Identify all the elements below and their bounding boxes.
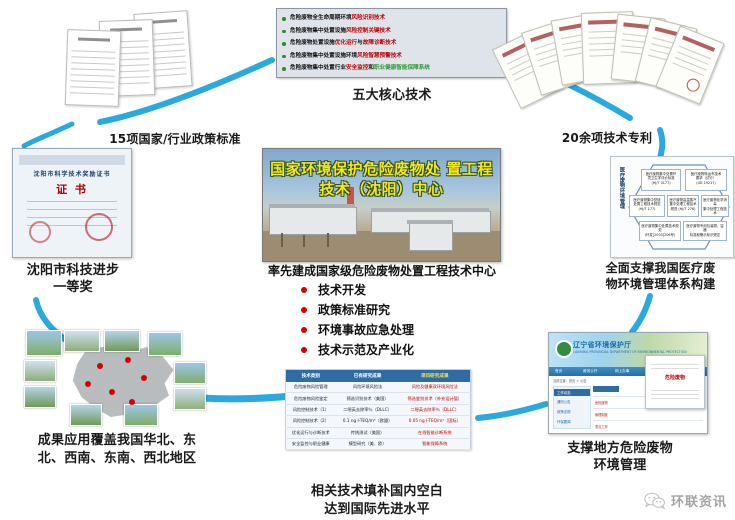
provincial-epb-website-screenshot: 辽宁省环境保护厅 LIAONING PROVINCIAL DEPARTMENT …: [548, 332, 708, 434]
map-caption: 成果应用覆盖我国华北、东 北、西南、东南、西北地区: [22, 432, 212, 468]
comparison-caption: 相关技术填补国内空白 达到国际先进水平: [282, 483, 472, 519]
core-tech-item: 危险废物集中处置设施环境风险智慧预警技术: [281, 50, 502, 63]
site-thumbnail: [174, 362, 206, 384]
standards-caption: 15项国家/行业政策标准: [90, 132, 260, 147]
table-header-row: 技术类别 已有研究成果 项目研究成果: [286, 370, 471, 383]
table-col-header: 已有研究成果: [336, 370, 400, 383]
infographic-canvas: 15项国家/行业政策标准 危险废物全生命周期环境风险识别技术 危险废物集中处置设…: [0, 0, 735, 520]
local-support-caption: 支撑地方危险废物 环境管理: [540, 440, 700, 474]
core-tech-item: 危险废物处置设施优化运行与故障诊断技术: [281, 37, 502, 50]
award-cert-title: 证 书: [13, 181, 131, 197]
core-tech-item: 危险废物集中处置设施风险控制关键技术: [281, 25, 502, 38]
center-function-item: 政策标准研究: [300, 300, 520, 320]
wechat-account-name: 环联资讯: [671, 491, 727, 510]
table-row: 风险控制技术（1） 二噁英去除率％（DLLC） 二噁英去除率％（DLLC）: [286, 404, 471, 415]
policy-standards-documents: [58, 8, 218, 120]
table-cell: 传统测试（美国）: [336, 427, 400, 438]
site-thumbnail: [24, 386, 56, 408]
table-cell: 筛选识别技术（美国）: [336, 393, 400, 404]
site-thumbnail: [174, 388, 206, 410]
nav-item[interactable]: 政务公开: [583, 369, 597, 374]
content-link[interactable]: 重点工作: [595, 424, 608, 429]
core-tech-item: 危险废物集中处置行业安全监控和职业健康智能保障系统: [281, 62, 502, 75]
wechat-account-badge: 环联资讯: [644, 491, 727, 510]
site-breadcrumb: 当前位置：首页 > 公告: [553, 378, 586, 383]
red-seal-icon: [29, 221, 51, 243]
content-section-title: [593, 386, 619, 392]
table-row: 危险废物风险鉴定 筛选识别技术（美国） 筛选鉴别技术（补充设计值）: [286, 393, 471, 404]
nav-item[interactable]: 网上办事: [615, 369, 629, 374]
content-link[interactable]: 管理制度: [595, 412, 608, 417]
table-cell: 危险废物风险鉴定: [286, 393, 336, 404]
table-cell: 二噁英去除率％（DLLC）: [400, 404, 471, 415]
table-row: 危险废物风险管理 风险环境风险法 风险及健康双环境风险法: [286, 382, 471, 393]
center-photo-title: 国家环境保护危险废物处 置工程技术（沈阳）中心: [263, 159, 500, 199]
table-cell: 0.1 ng I-TEQ/m³（欧盟）: [336, 416, 400, 427]
table-cell: 优化运行与诊断技术: [286, 427, 336, 438]
table-cell: 0.05 ng I-TEQ/m³（国标）: [400, 416, 471, 427]
table-cell: 模型研究（美、欧）: [336, 438, 400, 449]
hex-cell: 医疗废物集中处置环 境卫生学评价标准 (HJ/T 0177): [641, 169, 681, 191]
award-caption: 沈阳市科技进步 一等奖: [8, 262, 138, 296]
hex-cell: 医疗废物专用包装物、容器 标准和警示标识规定: [683, 221, 727, 241]
core-technologies-caption: 五大核心技术: [322, 88, 462, 103]
center-subtitle: 率先建成国家级危险废物处置工程技术中心: [232, 262, 532, 279]
award-cert-header: 沈阳市科学技术奖励证书: [13, 169, 131, 178]
site-subtitle: LIAONING PROVINCIAL DEPARTMENT OF ENVIRO…: [573, 350, 687, 354]
side-nav-item[interactable]: 工作动态: [554, 389, 590, 396]
center-function-item: 技术开发: [300, 280, 520, 300]
nav-item[interactable]: 首页: [555, 369, 562, 374]
table-cell: 智能保障系统: [400, 438, 471, 449]
patent-certificates: [500, 6, 715, 126]
table-cell: 在线智能诊断系统: [400, 427, 471, 438]
hex-cell: 医疗废物转运车技术 要求（试行） (GB 19217): [685, 169, 727, 191]
content-link[interactable]: 危险废物: [595, 400, 608, 405]
popup-title: 危险废物: [646, 374, 704, 381]
center-function-item: 技术示范及产业化: [300, 340, 520, 360]
wechat-icon: [644, 492, 666, 510]
core-technologies-box: 危险废物全生命周期环境风险识别技术 危险废物集中处置设施风险控制关键技术 危险废…: [276, 8, 507, 78]
table-row: 优化运行与诊断技术 传统测试（美国） 在线智能诊断系统: [286, 427, 471, 438]
center-facility-photo: 国家环境保护危险废物处 置工程技术（沈阳）中心: [262, 148, 501, 262]
core-technologies-list: 危险废物全生命周期环境风险识别技术 危险废物集中处置设施风险控制关键技术 危险废…: [281, 12, 502, 75]
table-row: 风险控制技术（2） 0.1 ng I-TEQ/m³（欧盟） 0.05 ng I-…: [286, 416, 471, 427]
award-certificate: 沈阳市科学技术奖励证书 证 书: [12, 148, 132, 258]
hex-cell: 医疗废物高温蒸汽 集中处理工程技术 规范 (HJ/T 276): [667, 195, 699, 217]
hex-cell: 医疗废物集中焚烧 处置工程技术规范 (HJ/T 177): [629, 195, 665, 217]
table-cell: 风险控制技术（2）: [286, 416, 336, 427]
table-cell: 风险控制技术（1）: [286, 404, 336, 415]
epb-logo-icon: [555, 340, 573, 358]
hex-cell: 医疗废物集中处置技术规范 (环发[2003]206号): [639, 221, 681, 241]
table-row: 安全监控与职业健康 模型研究（美、欧） 智能保障系统: [286, 438, 471, 449]
patents-caption: 20余项技术专利: [527, 131, 687, 146]
site-thumbnail: [24, 360, 56, 382]
medical-waste-management-diagram: 医疗废物环境管理 医疗废物集中处置环 境卫生学评价标准 (HJ/T 0177) …: [610, 156, 734, 258]
table-col-header: 项目研究成果: [400, 370, 471, 383]
hex-diagram-title: 医疗废物环境管理: [613, 167, 625, 209]
center-functions-list: 技术开发 政策标准研究 环境事故应急处理 技术示范及产业化: [300, 280, 520, 360]
table-cell: 安全监控与职业健康: [286, 438, 336, 449]
document-popup: 危险废物: [645, 355, 705, 409]
application-coverage-map: [24, 330, 209, 426]
site-name: 辽宁省环境保护厅: [573, 340, 631, 350]
table-cell: 风险环境风险法: [336, 382, 400, 393]
document-page: [65, 29, 122, 107]
side-nav-item[interactable]: 政策法规: [557, 409, 571, 414]
technology-comparison-table: 技术类别 已有研究成果 项目研究成果 危险废物风险管理 风险环境风险法 风险及健…: [285, 369, 471, 450]
map-markers: [66, 344, 178, 420]
site-side-nav: 工作动态 通知公告 政策法规 环保要闻: [553, 386, 591, 429]
table-cell: 危险废物风险管理: [286, 382, 336, 393]
side-nav-item[interactable]: 环保要闻: [557, 419, 571, 424]
core-tech-item: 危险废物全生命周期环境风险识别技术: [281, 12, 502, 25]
side-nav-item[interactable]: 通知公告: [557, 399, 571, 404]
table-cell: 筛选鉴别技术（补充设计值）: [400, 393, 471, 404]
table-cell: 风险及健康双环境风险法: [400, 382, 471, 393]
center-function-item: 环境事故应急处理: [300, 320, 520, 340]
table-col-header: 技术类别: [286, 370, 336, 383]
red-seal-icon: [85, 213, 113, 241]
site-thumbnail: [26, 330, 62, 356]
medical-caption: 全面支撑我国医疗废 物环境管理体系构建: [588, 260, 733, 292]
hex-cell: 医疗废物化学消毒 集中处理工程技术 规范 (HJ/T 228): [701, 195, 729, 217]
table-cell: 二噁英去除率％（DLLC）: [336, 404, 400, 415]
